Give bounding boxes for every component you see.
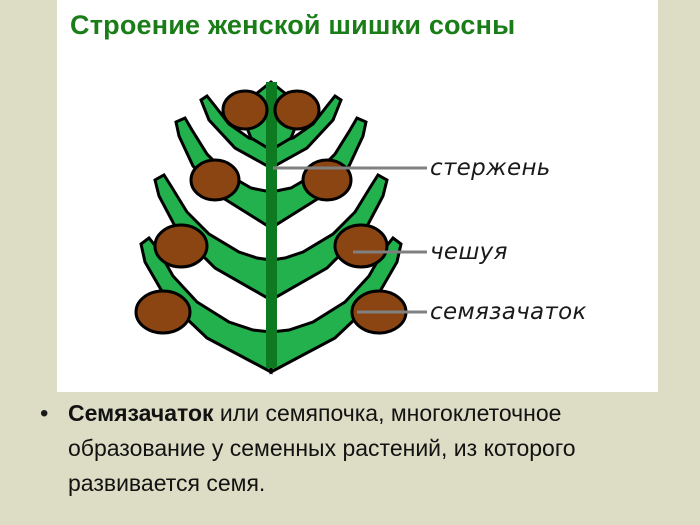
ovule-top-right — [275, 91, 319, 129]
pine-cone-diagram — [57, 0, 658, 392]
body-bullet-block: • Семязачаток или семяпочка, многоклеточ… — [36, 396, 676, 501]
bullet-paragraph: Семязачаток или семяпочка, многоклеточно… — [68, 396, 676, 501]
slide: Строение женской шишки сосны — [0, 0, 700, 525]
ovule-bottom-left — [136, 291, 190, 333]
ovule-mid-upper-right — [303, 160, 351, 200]
callout-label-scale: чешуя — [430, 239, 508, 265]
ovule-mid-lower-left — [155, 225, 207, 267]
callout-label-rod: стержень — [430, 155, 551, 181]
bullet-term: Семязачаток — [68, 400, 214, 426]
central-axis-overlay — [266, 82, 277, 368]
ovule-top-left — [223, 91, 267, 129]
list-item: • Семязачаток или семяпочка, многоклеточ… — [36, 396, 676, 501]
callout-label-ovule: семязачаток — [430, 299, 587, 325]
ovule-mid-upper-left — [191, 160, 239, 200]
bullet-marker: • — [36, 396, 68, 432]
ovule-mid-lower-right — [335, 225, 387, 267]
